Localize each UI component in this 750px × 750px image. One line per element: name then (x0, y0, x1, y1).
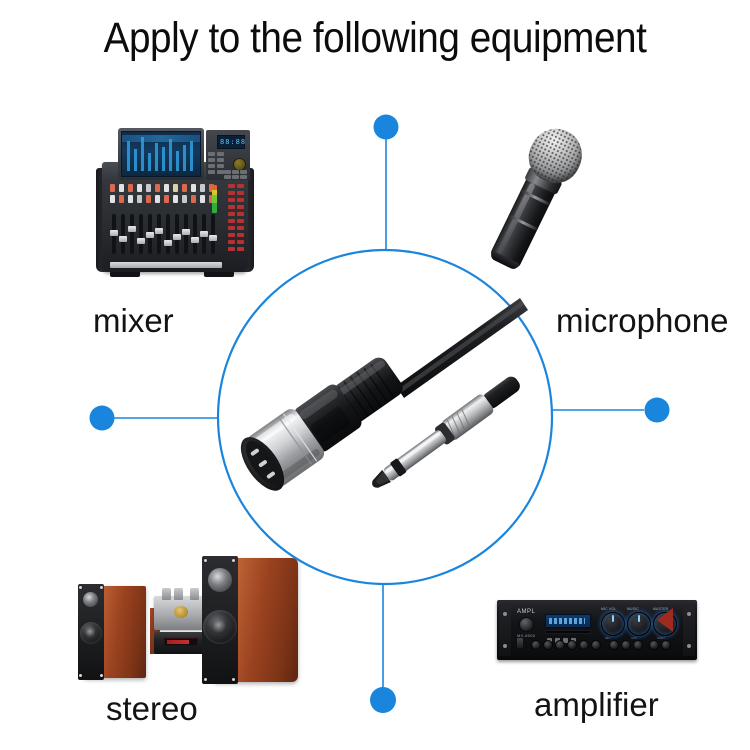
amplifier-icon: AMPL MX-8000 MIC VOL MIC MUSIC AUX MASTE… (497, 600, 697, 668)
amplifier-knob-sublabel-1: MIC (605, 636, 611, 640)
spoke-dot-right[interactable] (645, 398, 670, 423)
spoke-dot-top[interactable] (374, 115, 399, 140)
stereo-icon (62, 548, 298, 688)
stereo-vacuum-tube-1 (162, 588, 171, 600)
mixer-label-strip (110, 262, 222, 268)
stereo-speaker-left-woofer (80, 622, 102, 644)
amplifier-rack-ear-right (683, 604, 695, 656)
amplifier-rack-ear-left (499, 604, 511, 656)
equipment-label-microphone: microphone (556, 302, 728, 340)
amplifier-volume-knob-music[interactable] (627, 612, 651, 636)
stereo-amp-badge (174, 606, 188, 618)
mixer-fader-bank[interactable] (110, 214, 224, 260)
amplifier-media-slot[interactable] (545, 630, 591, 634)
stereo-vacuum-tube-2 (174, 588, 183, 600)
amplifier-brand-text: AMPL (517, 609, 535, 615)
center-product-cable (228, 268, 548, 528)
stereo-speaker-left-tweeter (83, 592, 98, 607)
amplifier-accent-wedge (657, 608, 673, 632)
mixer-lcd-display: 88:88 (217, 135, 245, 149)
microphone-icon (505, 122, 665, 282)
amplifier-input-knob[interactable] (519, 617, 534, 632)
stereo-speaker-right-tweeter (208, 568, 232, 592)
mixer-level-meter (212, 185, 217, 213)
stereo-speaker-right-woofer (203, 610, 237, 644)
mixer-aux-buttons[interactable] (228, 184, 246, 262)
spoke-dot-left[interactable] (90, 406, 115, 431)
equipment-label-mixer: mixer (93, 302, 174, 340)
amplifier-volume-knob-mic[interactable] (601, 612, 625, 636)
mixer-transport-buttons[interactable] (224, 170, 248, 180)
equipment-label-stereo: stereo (106, 690, 198, 728)
amplifier-knob-label-1: MIC VOL (601, 607, 616, 611)
mixer-icon: 88:88 (96, 128, 254, 278)
mixer-lcd-text: 88:88 (220, 138, 246, 146)
spoke-dot-bottom[interactable] (370, 687, 396, 713)
equipment-label-amplifier: amplifier (534, 686, 659, 724)
amplifier-knob-label-2: MUSIC (627, 607, 639, 611)
stereo-cd-display (164, 638, 198, 646)
amplifier-display (545, 614, 591, 628)
mixer-foot-left (110, 272, 140, 277)
amplifier-mic-input-jack[interactable] (517, 638, 523, 648)
stereo-vacuum-tube-3 (190, 588, 199, 600)
mixer-channel-buttons[interactable] (110, 184, 222, 210)
mixer-display (121, 131, 201, 177)
infographic-page: Apply to the following equipment (0, 0, 750, 750)
